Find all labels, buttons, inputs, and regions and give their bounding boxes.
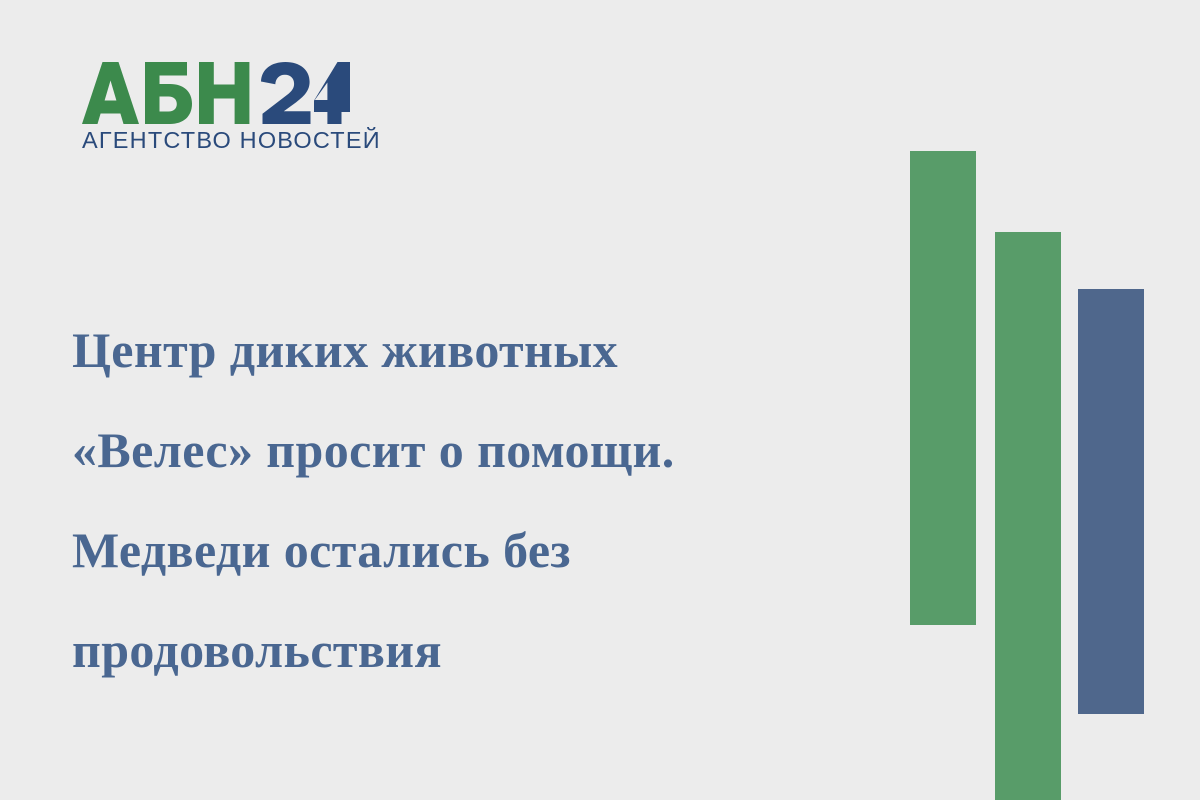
brand-wordmark-icon bbox=[82, 62, 350, 124]
brand-tagline: АГЕНТСТВО НОВОСТЕЙ bbox=[82, 127, 372, 154]
headline-line-2: «Велес» просит о помощи. bbox=[72, 400, 872, 500]
brand-logo[interactable]: АГЕНТСТВО НОВОСТЕЙ bbox=[82, 62, 372, 154]
decorative-bar-tall-green bbox=[910, 151, 976, 625]
news-card: АГЕНТСТВО НОВОСТЕЙ Центр диких животных … bbox=[0, 0, 1200, 800]
decorative-bar-mid-green bbox=[995, 232, 1061, 800]
decorative-bar-short-blue bbox=[1078, 289, 1144, 714]
headline-line-4: продовольствия bbox=[72, 600, 872, 700]
headline-line-3: Медведи остались без bbox=[72, 500, 872, 600]
headline: Центр диких животных «Велес» просит о по… bbox=[72, 300, 872, 700]
headline-line-1: Центр диких животных bbox=[72, 300, 872, 400]
